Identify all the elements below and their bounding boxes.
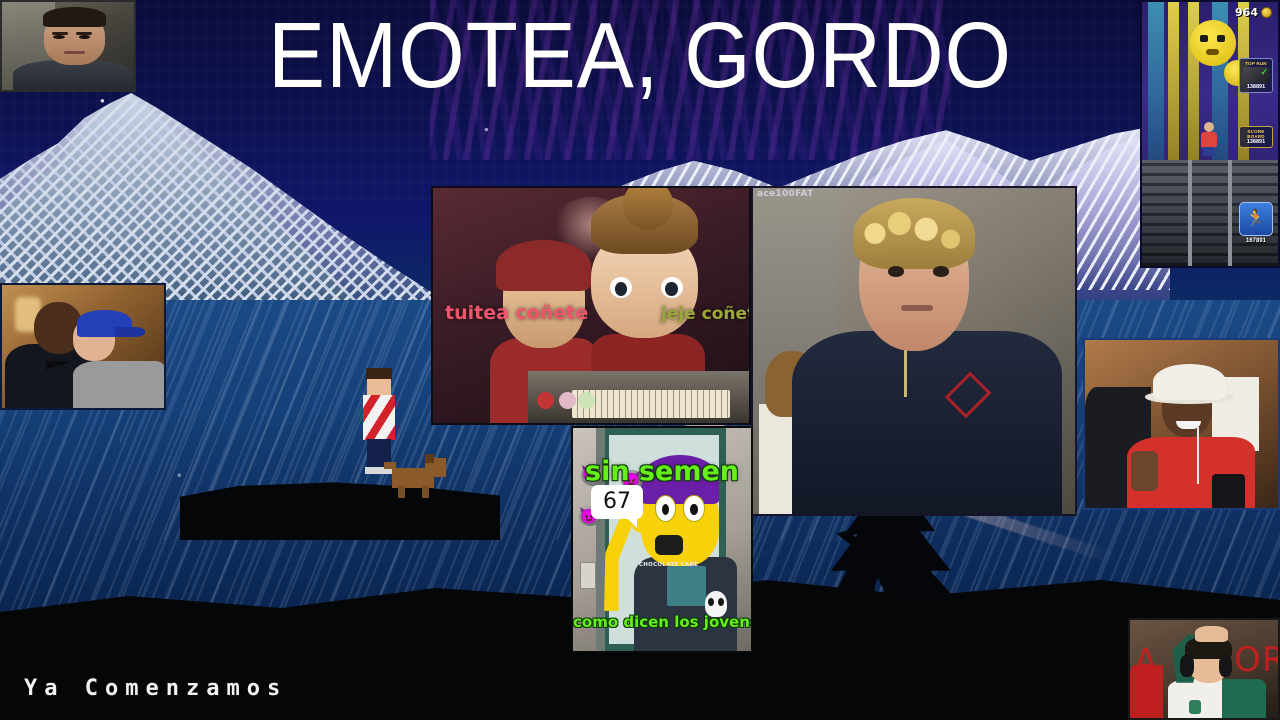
br-team-badge: [1189, 700, 1201, 714]
si-bottom-caption: como dicen los jovenes: [573, 613, 751, 631]
br-chair: [1130, 665, 1163, 718]
subway-runner: [1200, 122, 1218, 156]
dog-sprite: [392, 458, 446, 498]
hud-box-thumbnail: ✓: [1243, 67, 1269, 83]
si-cake-label: CHOCOLATE CAKE: [639, 562, 698, 569]
rc-thumbs-up: [1131, 451, 1158, 491]
subway-surfers-overlay[interactable]: 964 TOP RUN ✓ 138891 SCORE BOARD 138891 …: [1140, 0, 1280, 268]
jimmy-neutron-meme[interactable]: tuitea coñete jeje coñete: [431, 186, 751, 425]
hud-box2-title: SCORE BOARD: [1241, 129, 1271, 139]
stream-caption: Ya Comenzamos: [24, 676, 287, 701]
navy-quarter-zip: [792, 331, 1062, 516]
zipper: [904, 344, 907, 396]
hud-box-value: 138891: [1241, 84, 1271, 90]
pacman-eye-left: [1200, 35, 1208, 42]
skull-eye-left: [708, 598, 714, 606]
br-hand: [1195, 626, 1228, 642]
jn-left-caption: tuitea coñete: [445, 302, 588, 324]
photo-watermark: ace100FAT: [757, 189, 814, 199]
simpsons-meme[interactable]: CHOCOLATE CAKE 67 sin semen como dicen l…: [571, 426, 753, 653]
coin-count-label: 964: [1235, 6, 1258, 19]
headphone-cup-right-icon: [1219, 655, 1232, 677]
hud-box-score[interactable]: SCORE BOARD 138891: [1239, 126, 1273, 148]
kiss-woman-body: [73, 361, 164, 410]
rc-earphone-cord: [1197, 427, 1199, 484]
si-mouth: [655, 535, 683, 555]
check-icon: ✓: [1260, 68, 1268, 77]
jn-carl-cap: [496, 240, 591, 292]
bubble-number: 67: [603, 490, 631, 514]
si-top-caption: sin semen: [573, 456, 751, 487]
blonde-curls: [853, 198, 975, 270]
skull-eye-right: [718, 598, 724, 606]
hud-box-title: TOP RUN: [1241, 61, 1271, 66]
sprite-jersey: [363, 395, 395, 440]
dog-leg-front: [422, 486, 429, 498]
br-jacket-green: [1222, 679, 1266, 720]
wall-letter-o: O: [1234, 640, 1261, 680]
kiss-clip-overlay[interactable]: [0, 283, 166, 410]
boost-value: 167891: [1239, 238, 1273, 244]
curly-mullet-photo[interactable]: ace100FAT: [751, 186, 1077, 516]
cam-hair: [43, 7, 106, 26]
hud-box-top-run[interactable]: TOP RUN ✓ 138891: [1239, 58, 1273, 93]
webcam-overlay-topleft[interactable]: [0, 0, 136, 92]
si-chocolate-cake: [667, 566, 706, 606]
si-light-switch: [580, 562, 596, 589]
mullet-eye-left: [888, 266, 904, 276]
mullet-mouth: [901, 305, 933, 310]
runner-head: [1204, 122, 1214, 132]
coin-counter: 964: [1235, 6, 1272, 19]
si-pupil-left: [662, 504, 669, 515]
dog-ear: [425, 454, 434, 463]
pacman-character: [1190, 20, 1236, 66]
sprite-face: [367, 379, 391, 396]
subway-rail-left: [1188, 160, 1192, 266]
mullet-eye-right: [933, 266, 949, 276]
jn-keyboard: [572, 390, 730, 418]
coin-icon: [1261, 7, 1272, 18]
runner-boost-icon: 🏃: [1240, 203, 1272, 235]
runner-body: [1201, 132, 1217, 148]
headphone-cup-left-icon: [1180, 655, 1193, 677]
speech-bubble: 67: [591, 485, 643, 519]
reaction-cam-right[interactable]: [1083, 338, 1280, 510]
subway-rail-right: [1228, 160, 1232, 266]
rc-microphone: [1212, 474, 1245, 510]
si-pupil-right: [690, 504, 697, 515]
dog-leg-back: [398, 486, 405, 498]
stream-title: EMOTEA, GORDO: [51, 4, 1229, 106]
hud-box2-value: 138891: [1241, 139, 1271, 145]
reaction-cam-bottomright[interactable]: A O R: [1128, 618, 1280, 720]
runner-legs: [1203, 147, 1215, 156]
cam-mouth: [64, 51, 85, 54]
rc-bucket-hat: [1153, 364, 1226, 401]
wall-letter-r: R: [1262, 640, 1280, 680]
jn-right-caption: jeje coñete: [661, 304, 751, 324]
pacman-mouth: [1206, 49, 1220, 55]
kiss-cap-brim: [115, 327, 144, 337]
subway-column-1: [1148, 2, 1164, 160]
jn-pupil-right: [665, 282, 678, 296]
pacman-eye-right: [1217, 35, 1225, 42]
stream-collage-stage: EMOTEA, GORDO: [0, 0, 1280, 720]
boost-powerup-button[interactable]: 🏃: [1239, 202, 1273, 236]
